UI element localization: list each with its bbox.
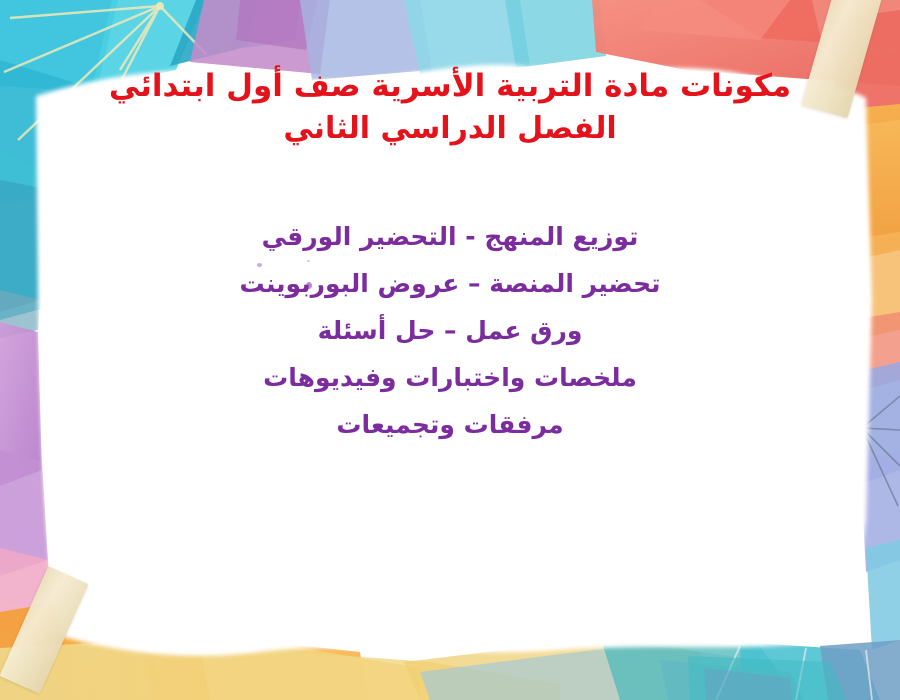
poster-content: مكونات مادة التربية الأسرية صف أول ابتدا…: [0, 0, 900, 700]
poster-title: مكونات مادة التربية الأسرية صف أول ابتدا…: [55, 64, 845, 151]
title-line-1: مكونات مادة التربية الأسرية صف أول ابتدا…: [55, 64, 845, 108]
body-line-attachments: مرفقات وتجميعات: [50, 401, 850, 448]
body-line-worksheets: ورق عمل – حل أسئلة: [50, 307, 850, 354]
title-line-2: الفصل الدراسي الثاني: [55, 108, 845, 151]
poster-canvas: مكونات مادة التربية الأسرية صف أول ابتدا…: [0, 0, 900, 700]
body-line-summaries-tests-videos: ملخصات واختبارات وفيديوهات: [50, 354, 850, 401]
poster-body: توزيع المنهج - التحضير الورقي تحضير المن…: [50, 213, 850, 448]
body-line-platform-prep: تحضير المنصة – عروض البوربوينت: [50, 260, 850, 307]
body-line-curriculum-distribution: توزيع المنهج - التحضير الورقي: [50, 213, 850, 260]
